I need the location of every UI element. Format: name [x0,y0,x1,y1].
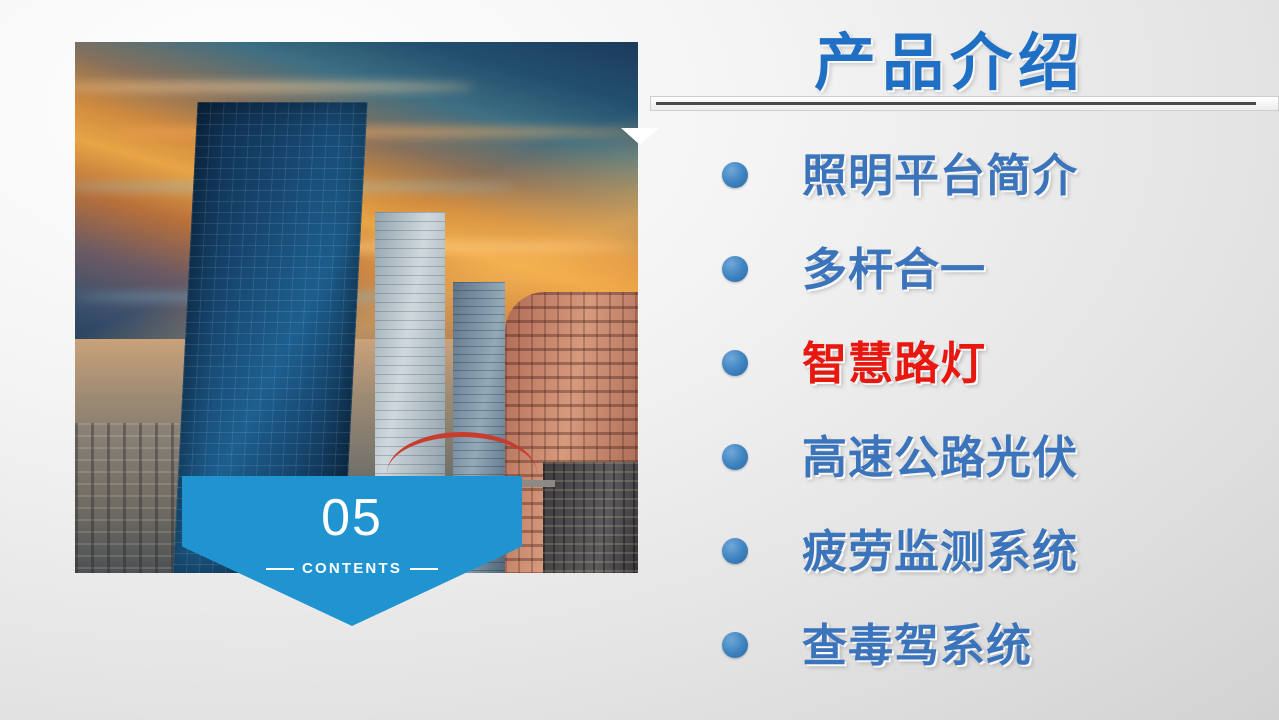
bullet-icon [722,444,748,470]
title-divider [650,96,1279,112]
list-item[interactable]: 查毒驾系统 [650,598,1279,692]
page-title: 产品介绍 [650,12,1250,102]
list-item[interactable]: 多杆合一 [650,222,1279,316]
contents-label: CONTENTS [302,560,402,577]
sky-streak [75,82,475,92]
bullet-icon [722,162,748,188]
list-item[interactable]: 疲劳监测系统 [650,504,1279,598]
bullet-icon [722,256,748,282]
content-panel: 产品介绍 照明平台简介 多杆合一 智慧路灯 高速公路光伏 [650,0,1279,720]
agenda-item-label: 疲劳监测系统 [802,529,1078,574]
sky-streak [115,127,635,137]
bullet-icon [722,632,748,658]
bullet-icon [722,350,748,376]
agenda-item-label: 照明平台简介 [802,153,1078,198]
section-number: 05 [182,492,522,544]
agenda-list: 照明平台简介 多杆合一 智慧路灯 高速公路光伏 疲劳监测系统 查毒驾系统 [650,128,1279,692]
rule-left-icon [266,568,294,570]
list-item[interactable]: 智慧路灯 [650,316,1279,410]
rule-right-icon [410,568,438,570]
agenda-item-label: 查毒驾系统 [802,623,1032,668]
agenda-item-label-active: 智慧路灯 [802,341,986,386]
bullet-icon [722,538,748,564]
agenda-item-label: 高速公路光伏 [802,435,1078,480]
dark-building [543,462,638,573]
divider-inner-line [656,102,1256,105]
list-item[interactable]: 照明平台简介 [650,128,1279,222]
contents-label-row: CONTENTS [182,560,522,577]
list-item[interactable]: 高速公路光伏 [650,410,1279,504]
caret-down-icon [621,128,659,145]
slide: 05 CONTENTS 产品介绍 照明平台简介 多杆合一 智慧路灯 [0,0,1279,720]
agenda-item-label: 多杆合一 [802,247,986,292]
contents-chevron-banner: 05 CONTENTS [182,476,522,626]
